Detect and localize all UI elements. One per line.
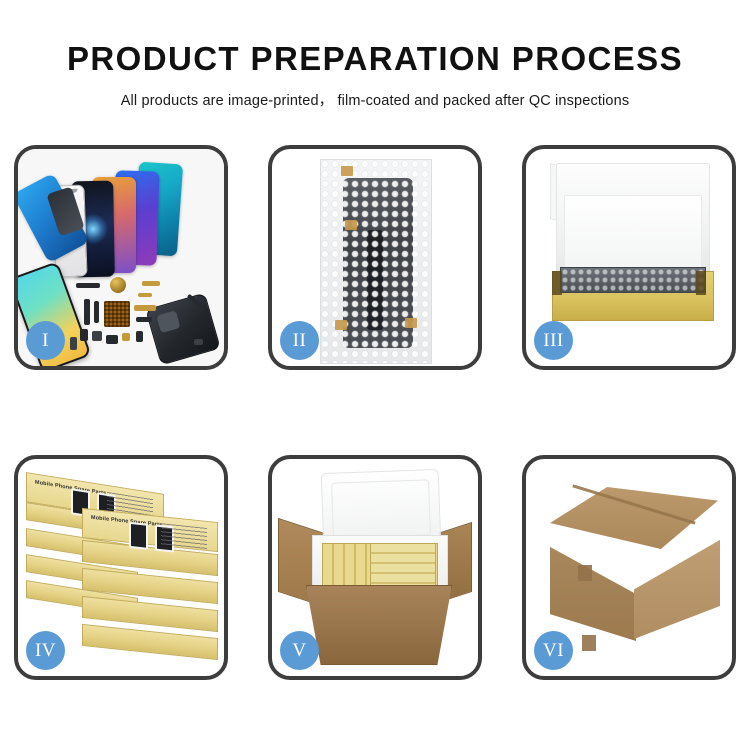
process-step-panel-4: Mobile Phone Spare Parts Mobile Phone Sp…: [14, 455, 228, 680]
product-preparation-process-page: PRODUCT PREPARATION PROCESS All products…: [0, 0, 750, 750]
step-badge-4: IV: [26, 631, 65, 670]
step-badge-6: VI: [534, 631, 573, 670]
process-step-panel-6: VI: [522, 455, 736, 680]
process-step-panel-2: II: [268, 145, 482, 370]
process-step-panel-1: I: [14, 145, 228, 370]
process-step-panel-3: III: [522, 145, 736, 370]
step-badge-2: II: [280, 321, 319, 360]
page-title: PRODUCT PREPARATION PROCESS: [0, 42, 750, 77]
page-subtitle: All products are image-printed， film-coa…: [0, 89, 750, 110]
process-step-grid: I II: [14, 145, 736, 680]
step-badge-5: V: [280, 631, 319, 670]
page-header: PRODUCT PREPARATION PROCESS All products…: [0, 0, 750, 110]
step-badge-3: III: [534, 321, 573, 360]
step-badge-1: I: [26, 321, 65, 360]
process-step-panel-5: V: [268, 455, 482, 680]
